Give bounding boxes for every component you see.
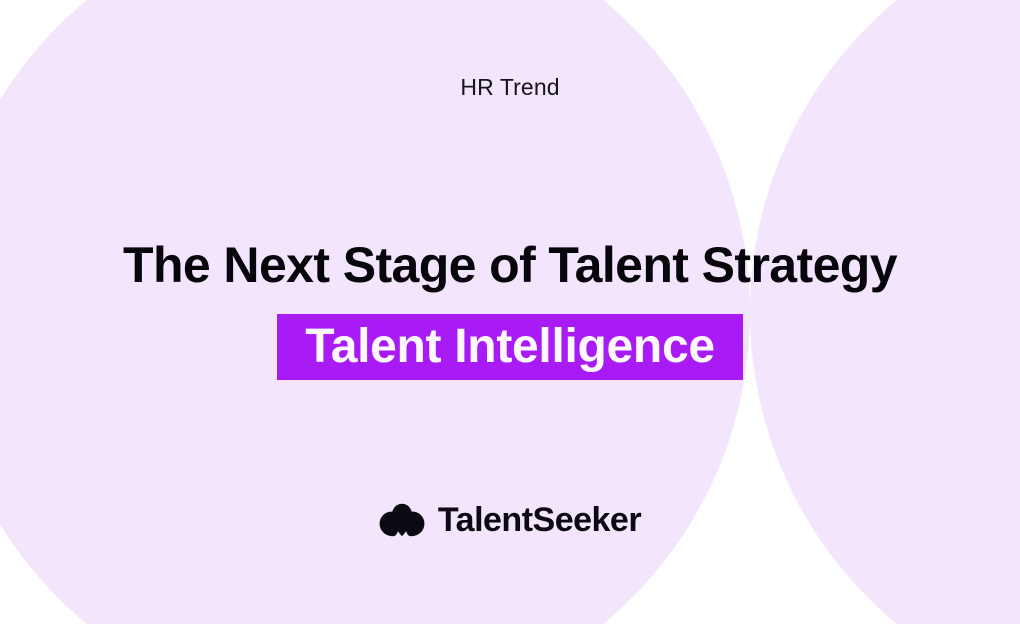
hr-trend-promo-card: HR Trend The Next Stage of Talent Strate… (0, 0, 1020, 624)
card-content: HR Trend The Next Stage of Talent Strate… (0, 0, 1020, 624)
headline-block: The Next Stage of Talent Strategy (0, 238, 1020, 292)
three-petal-logo-icon (379, 503, 425, 537)
eyebrow-label: HR Trend (0, 74, 1020, 102)
page-title: The Next Stage of Talent Strategy (0, 238, 1020, 292)
brand-lockup: TalentSeeker (0, 503, 1020, 537)
highlighted-subtitle: Talent Intelligence (277, 314, 743, 380)
brand-wordmark: TalentSeeker (438, 503, 641, 537)
subline-block: Talent Intelligence (0, 314, 1020, 380)
